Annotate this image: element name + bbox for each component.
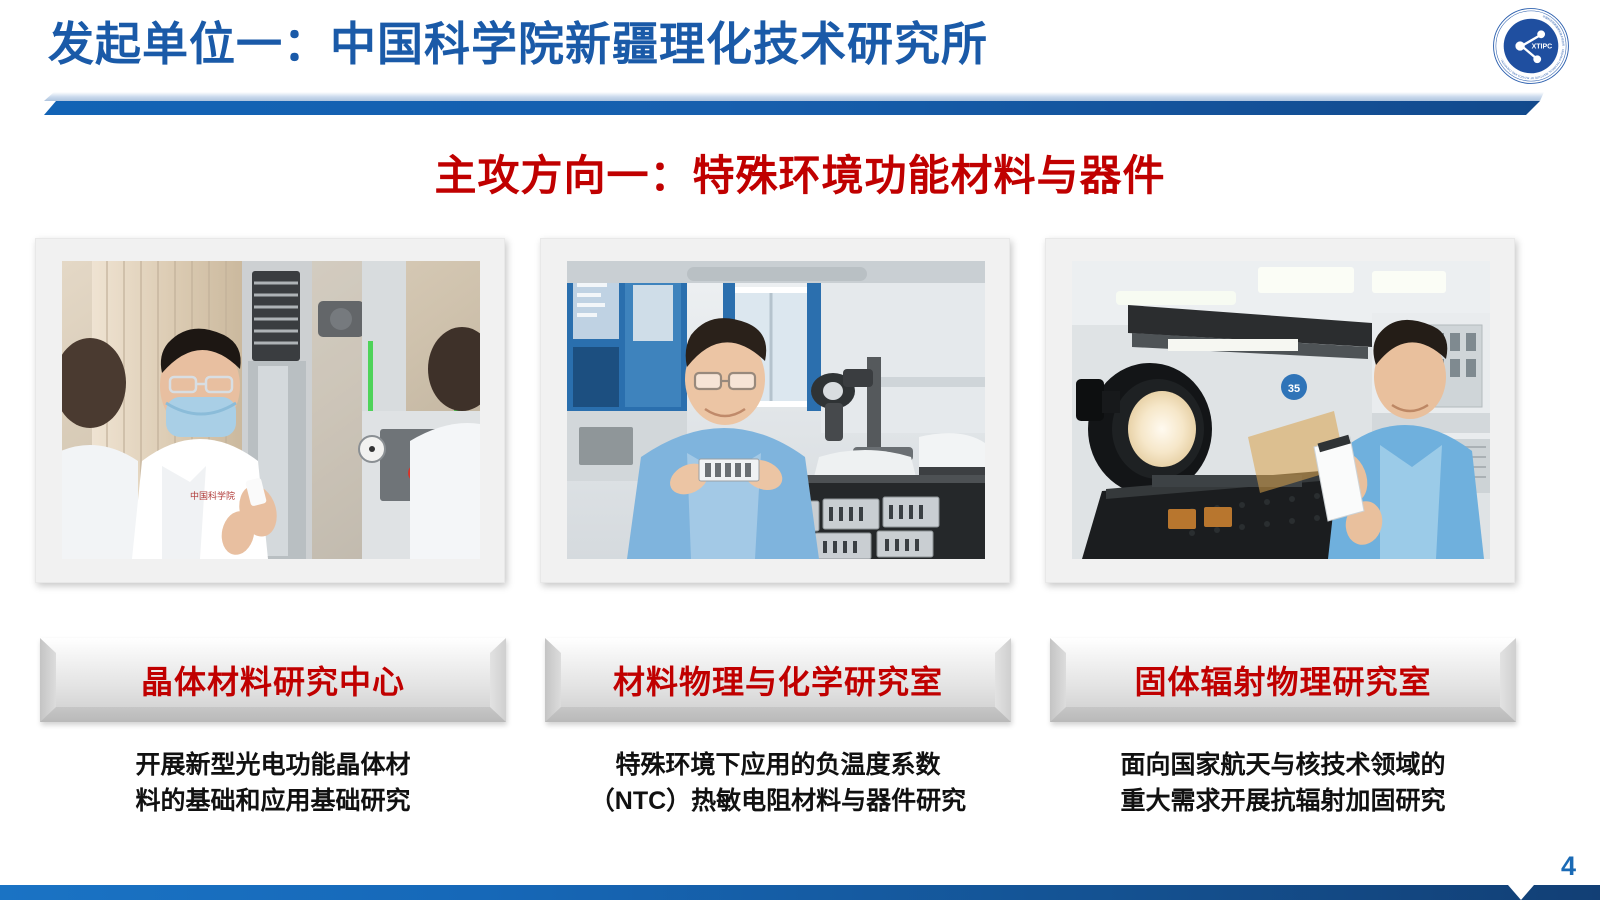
page-title: 发起单位一：中国科学院新疆理化技术研究所 [48,16,988,74]
photo-solid-radiation-physics-lab: 35 [1072,261,1490,559]
caption-2: 特殊环境下应用的负温度系数 （NTC）热敏电阻材料与器件研究 [533,748,1023,819]
banner-plate-1[interactable]: 晶体材料研究中心 [40,638,506,722]
section-title: 主攻方向一：特殊环境功能材料与器件 [0,142,1600,203]
page-number: 4 [1561,851,1576,882]
svg-text:XTIPC: XTIPC [1532,43,1553,50]
xtipc-institute-logo-icon: XTIPC 中国科学院新疆理化技术研究所 · XINJIANG TECHNICA… [1492,7,1570,85]
photo-card-3: 35 [1045,238,1515,583]
banner-label-3: 固体辐射物理研究室 [1050,657,1516,703]
bevel-bottom [40,707,506,722]
svg-text:35: 35 [1288,383,1300,395]
photo-card-2 [540,238,1010,583]
header-rule-highlight [44,92,1544,101]
banner-plate-2[interactable]: 材料物理与化学研究室 [545,638,1011,722]
caption-3-line-1: 面向国家航天与核技术领域的 [1038,748,1528,784]
photo-materials-physics-chemistry-lab [567,261,985,559]
caption-3-line-2: 重大需求开展抗辐射加固研究 [1038,784,1528,820]
photo-card-1: 中国科学院 [35,238,505,583]
photo-row: 中国科学院 [0,238,1600,588]
caption-1: 开展新型光电功能晶体材 料的基础和应用基础研究 [28,748,518,819]
footer-bar [0,885,1600,900]
caption-1-line-2: 料的基础和应用基础研究 [28,784,518,820]
caption-2-line-2: （NTC）热敏电阻材料与器件研究 [533,784,1023,820]
banner-label-2: 材料物理与化学研究室 [545,657,1011,703]
slide-header: 发起单位一：中国科学院新疆理化技术研究所 XTIPC 中国科学院新疆理化技术研究… [0,0,1600,118]
caption-2-line-1: 特殊环境下应用的负温度系数 [533,748,1023,784]
bevel-bottom [1050,707,1516,722]
banner-label-1: 晶体材料研究中心 [40,657,506,703]
bevel-top [545,638,1011,653]
footer-notch [1508,885,1534,900]
bevel-top [1050,638,1516,653]
svg-text:中国科学院: 中国科学院 [190,490,235,502]
banner-plate-3[interactable]: 固体辐射物理研究室 [1050,638,1516,722]
bevel-top [40,638,506,653]
header-rule [44,101,1540,115]
caption-3: 面向国家航天与核技术领域的 重大需求开展抗辐射加固研究 [1038,748,1528,819]
caption-1-line-1: 开展新型光电功能晶体材 [28,748,518,784]
photo-crystal-materials-lab: 中国科学院 [62,261,480,559]
bevel-bottom [545,707,1011,722]
